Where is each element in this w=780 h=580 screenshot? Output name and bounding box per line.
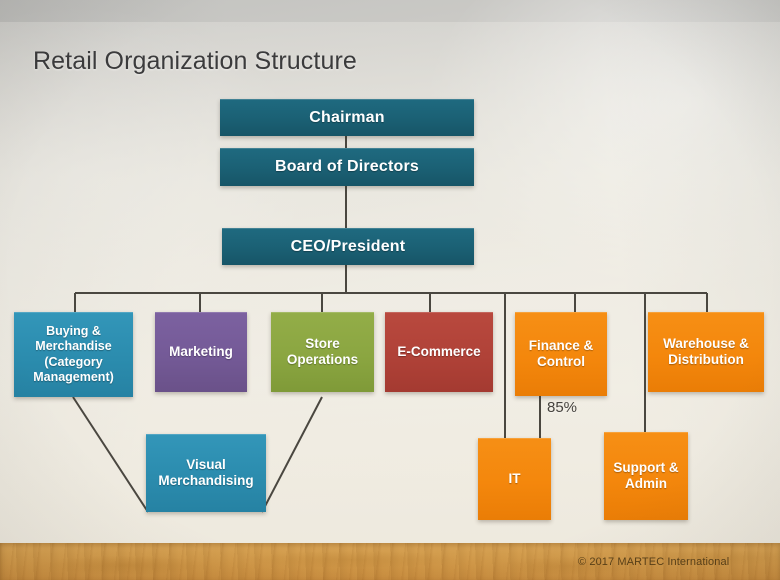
node-store-operations-label: Store Operations	[275, 336, 370, 369]
node-it-label: IT	[509, 471, 521, 487]
node-visual-merchandising-label: Visual Merchandising	[150, 457, 262, 490]
node-visual-merchandising[interactable]: Visual Merchandising	[146, 434, 266, 512]
node-store-operations[interactable]: Store Operations	[271, 312, 374, 392]
edge-annotation-85-percent: 85%	[547, 399, 577, 416]
node-ecommerce[interactable]: E-Commerce	[385, 312, 493, 392]
node-ecommerce-label: E-Commerce	[397, 344, 480, 360]
org-chart-slide: Retail Organization Structure	[0, 0, 780, 580]
node-marketing-label: Marketing	[169, 344, 233, 360]
node-buying-merchandise[interactable]: Buying & Merchandise (Category Managemen…	[14, 312, 133, 397]
node-ceo-president-label: CEO/President	[291, 237, 406, 257]
node-support-admin[interactable]: Support & Admin	[604, 432, 688, 520]
edge-buying-visual	[73, 397, 148, 512]
page-title: Retail Organization Structure	[33, 47, 357, 76]
node-chairman[interactable]: Chairman	[220, 99, 474, 136]
copyright-footer: © 2017 MARTEC International	[578, 556, 729, 568]
node-it[interactable]: IT	[478, 438, 551, 520]
node-finance-control[interactable]: Finance & Control	[515, 312, 607, 396]
node-board-of-directors-label: Board of Directors	[275, 157, 419, 177]
node-marketing[interactable]: Marketing	[155, 312, 247, 392]
node-finance-control-label: Finance & Control	[519, 338, 603, 371]
edge-storeops-visual	[262, 397, 322, 512]
node-support-admin-label: Support & Admin	[608, 460, 684, 493]
node-buying-merchandise-label: Buying & Merchandise (Category Managemen…	[18, 324, 129, 385]
node-ceo-president[interactable]: CEO/President	[222, 228, 474, 265]
node-warehouse-distribution[interactable]: Warehouse & Distribution	[648, 312, 764, 392]
node-board-of-directors[interactable]: Board of Directors	[220, 148, 474, 186]
node-chairman-label: Chairman	[309, 108, 384, 128]
node-warehouse-distribution-label: Warehouse & Distribution	[652, 336, 760, 369]
